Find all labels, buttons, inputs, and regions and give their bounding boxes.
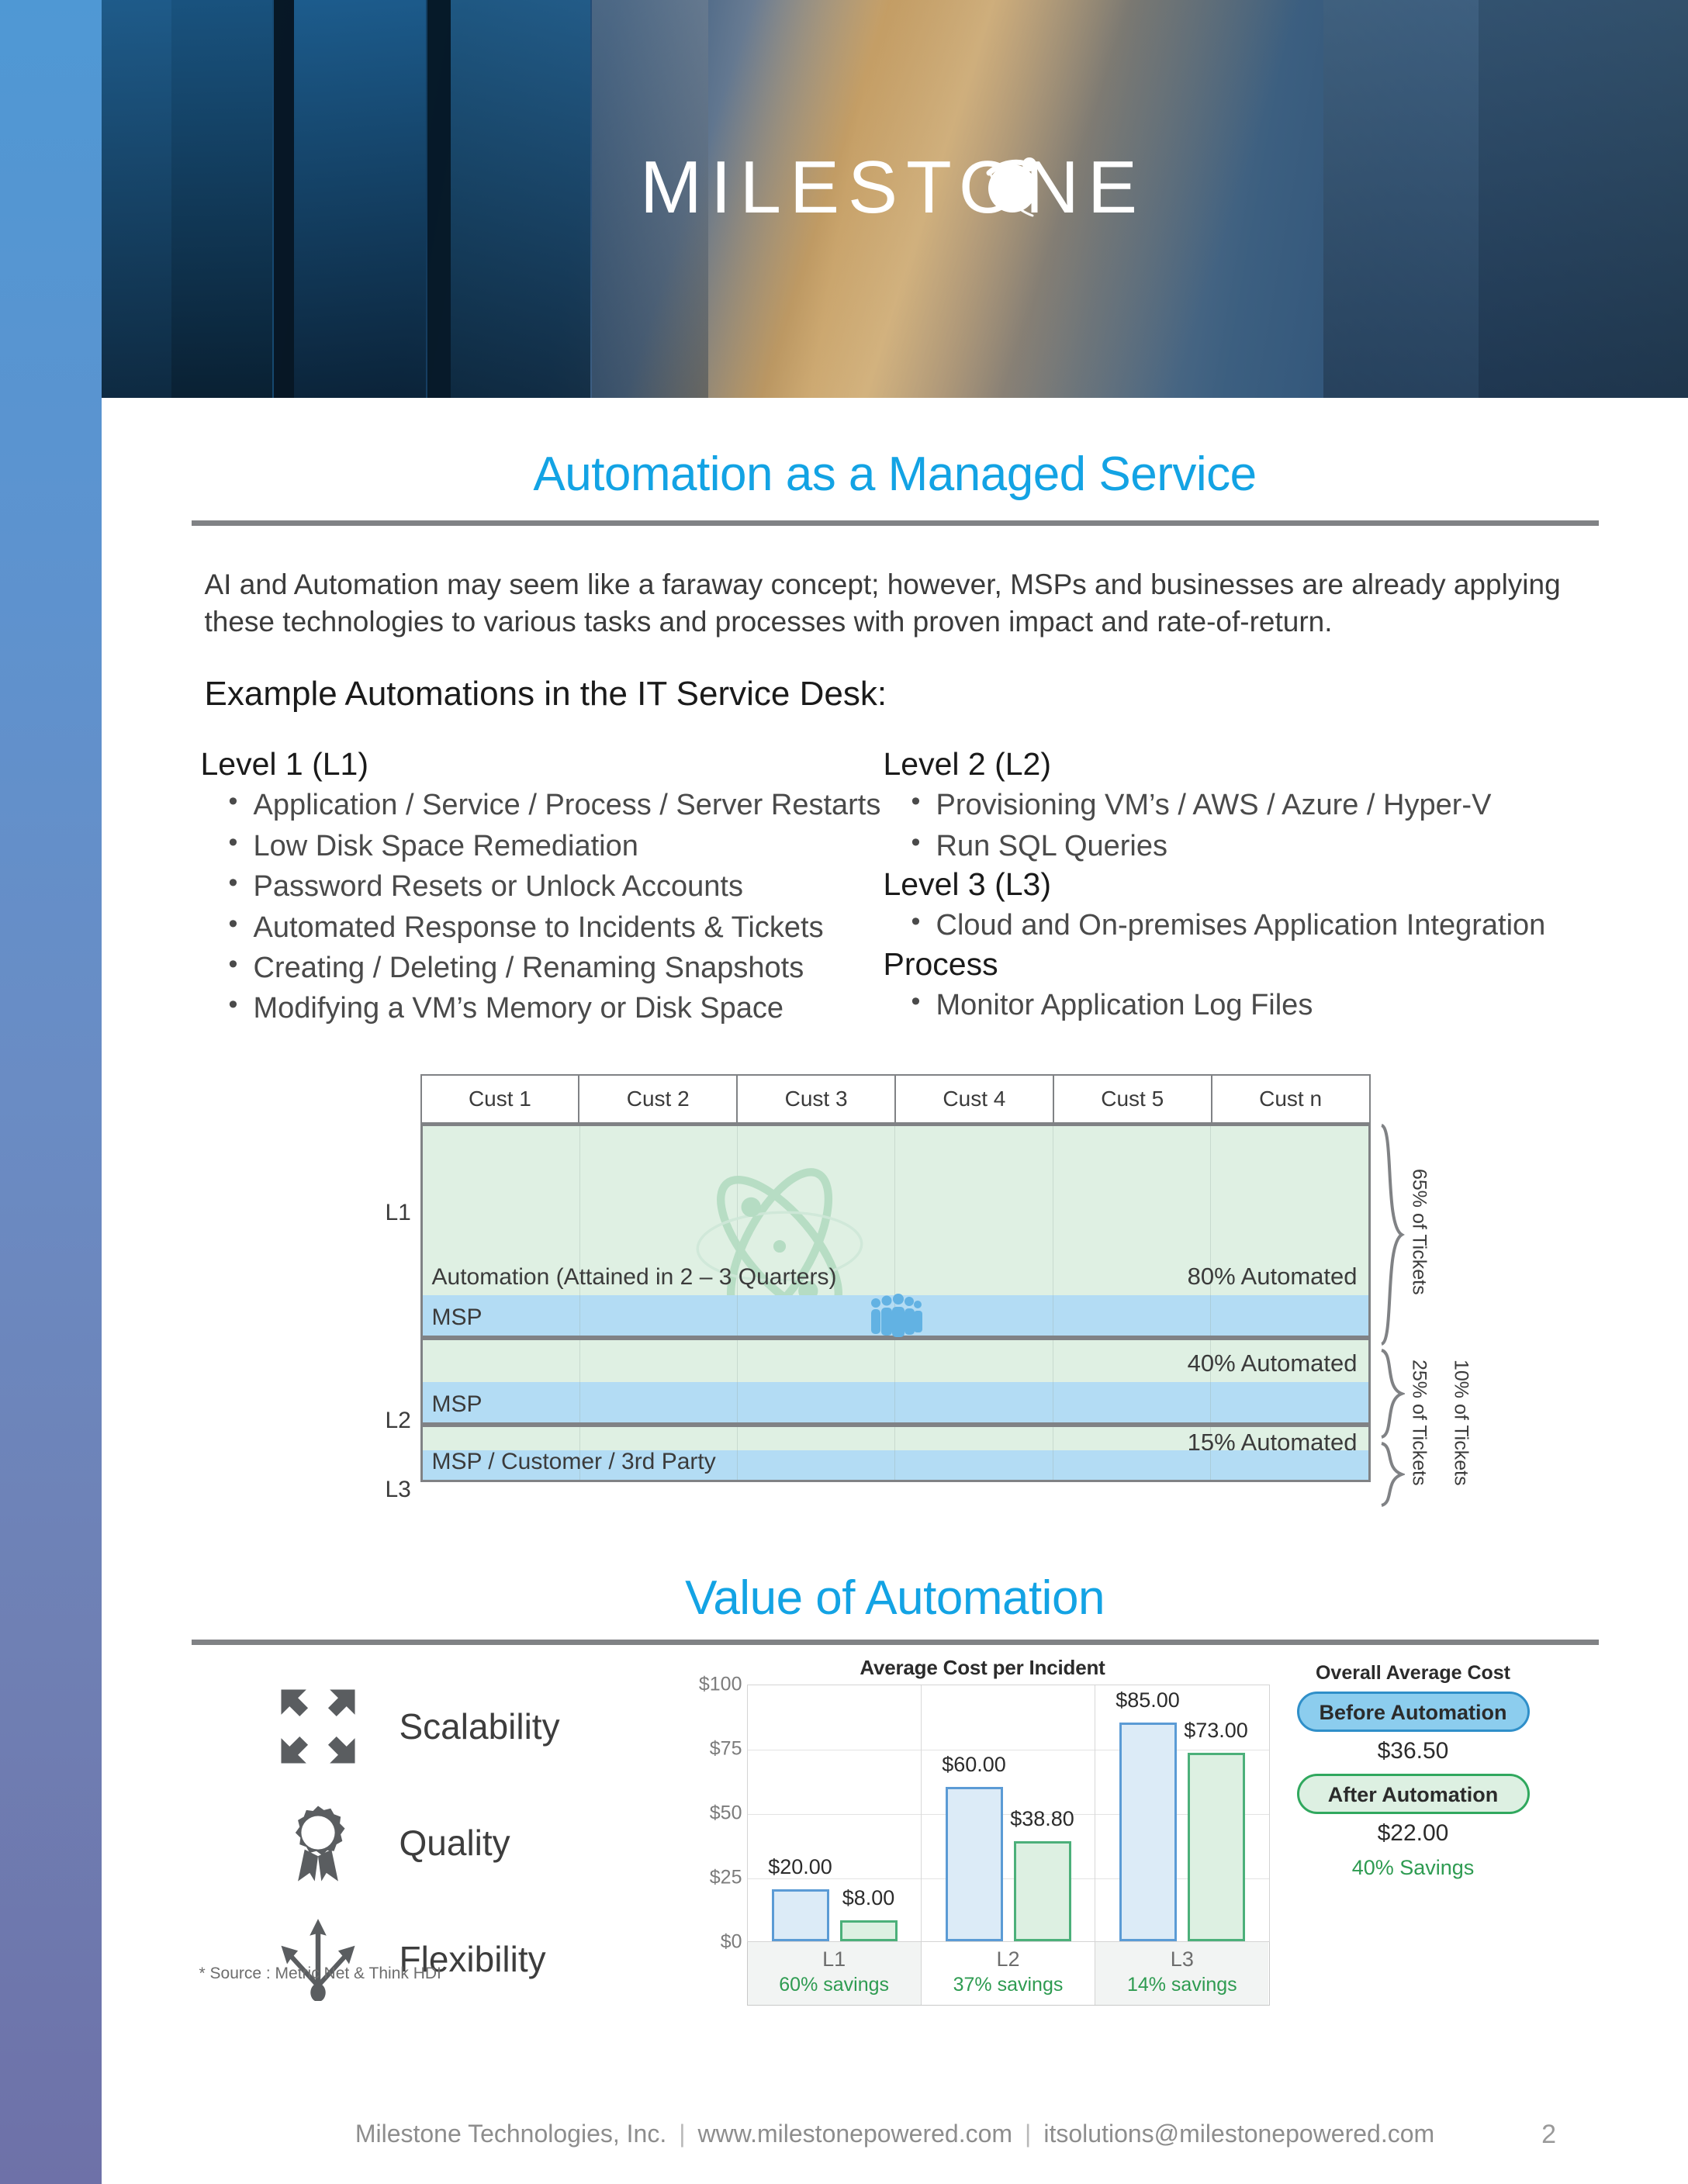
list-item: Automated Response to Incidents & Ticket… [226,907,884,948]
customer-header-row: Cust 1 Cust 2 Cust 3 Cust 4 Cust 5 Cust … [420,1074,1371,1124]
list-item: Modifying a VM’s Memory or Disk Space [226,988,884,1028]
customer-cell: Cust 1 [421,1075,579,1123]
page-footer: Milestone Technologies, Inc. | www.miles… [102,2120,1688,2148]
bar-group-l1: $20.00 $8.00 [748,1685,922,1941]
logo-text: MILESTONE [640,146,1146,229]
level-heading-l1: Level 1 (L1) [201,746,884,783]
list-item: Low Disk Space Remediation [226,826,884,866]
automation-lists: Level 1 (L1) Application / Service / Pro… [201,746,1589,1029]
list-item: Monitor Application Log Files [908,985,1589,1025]
award-ribbon-icon [269,1801,367,1885]
matrix-l2-msp-label: MSP [432,1391,483,1418]
milestone-logo: MILESTONE [102,0,1688,398]
chart-plot-area: $20.00 $8.00 $60.00 [747,1685,1270,1942]
y-tick: $0 [721,1930,742,1953]
bar-value-label: $20.00 [768,1855,832,1879]
bar-before-l3: $85.00 [1119,1723,1177,1941]
before-automation-value: $36.50 [1297,1738,1530,1764]
brace-label-l3: 10% of Tickets [1450,1360,1472,1486]
overall-savings: 40% Savings [1297,1856,1530,1880]
matrix-l1-automation-label: Automation (Attained in 2 – 3 Quarters) [432,1264,837,1291]
list-item: Application / Service / Process / Server… [226,785,884,825]
brace-label-l1: 65% of Tickets [1408,1169,1430,1295]
list-item: Creating / Deleting / Renaming Snapshots [226,948,884,988]
automation-matrix-diagram: L1 L2 L3 Cust 1 Cust 2 Cust 3 Cust 4 Cus… [201,1060,1589,1557]
footer-separator: | [679,2120,685,2148]
matrix-level-tag-l3: L3 [386,1477,411,1503]
matrix-row-l3-automation: 15% Automated [423,1427,1368,1450]
x-savings-label: 37% savings [922,1974,1095,1996]
bar-value-label: $60.00 [942,1753,1006,1777]
customer-cell: Cust 4 [895,1075,1053,1123]
overall-title: Overall Average Cost [1297,1662,1530,1685]
customer-cell: Cust 5 [1053,1075,1212,1123]
level-heading-l3: Level 3 (L3) [884,866,1589,903]
level-list-process: Monitor Application Log Files [908,985,1589,1025]
y-tick: $50 [710,1802,742,1824]
flexibility-arrows-icon [269,1917,367,2001]
value-section-title: Value of Automation [102,1571,1688,1626]
bar-after-l1: $8.00 [840,1920,898,1941]
y-tick: $75 [710,1737,742,1760]
matrix-row-l3-msp: MSP / Customer / 3rd Party [423,1450,1368,1480]
y-tick: $100 [699,1673,742,1695]
y-tick: $25 [710,1866,742,1889]
page-number: 2 [1541,2120,1556,2150]
matrix-l3-msp-label: MSP / Customer / 3rd Party [432,1449,716,1475]
list-item: Provisioning VM’s / AWS / Azure / Hyper-… [908,785,1589,825]
chart-title: Average Cost per Incident [696,1656,1270,1680]
matrix-l1-msp-label: MSP [432,1305,483,1331]
overall-average-cost-panel: Overall Average Cost Before Automation $… [1297,1662,1530,1880]
brace-l2 [1378,1349,1405,1439]
matrix-band-l3: 15% Automated MSP / Customer / 3rd Party [420,1425,1371,1482]
bar-value-label: $85.00 [1116,1688,1180,1712]
customer-cell: Cust n [1212,1075,1370,1123]
benefit-label: Quality [400,1822,510,1864]
list-item: Cloud and On-premises Application Integr… [908,905,1589,945]
brace-l3 [1378,1442,1405,1507]
bar-value-label: $38.80 [1010,1807,1074,1831]
section-subheading: Example Automations in the IT Service De… [205,675,1586,714]
brace-l1 [1378,1124,1405,1346]
matrix-row-l2-automation: 40% Automated [423,1340,1368,1382]
customer-cell: Cust 3 [737,1075,895,1123]
x-axis-cell-l2: L2 37% savings [922,1942,1095,2005]
bar-after-l2: $38.80 [1014,1841,1071,1941]
level-list-l3: Cloud and On-premises Application Integr… [908,905,1589,945]
bar-group-l3: $85.00 $73.00 [1095,1685,1269,1941]
header-hero-image: MILESTONE [102,0,1688,398]
x-axis-cell-l1: L1 60% savings [748,1942,922,2005]
level-heading-process: Process [884,946,1589,983]
matrix-level-tag-l1: L1 [386,1200,411,1226]
x-savings-label: 60% savings [748,1974,921,1996]
intro-paragraph: AI and Automation may seem like a farawa… [205,566,1586,641]
matrix-band-l1: Automation (Attained in 2 – 3 Quarters) … [420,1124,1371,1338]
list-item: Password Resets or Unlock Accounts [226,866,884,907]
matrix-level-tag-l2: L2 [386,1408,411,1434]
grid-lines [423,1382,1368,1422]
source-note: * Source : Metric Net & Think HDI [199,1965,441,1983]
footer-separator: | [1025,2120,1031,2148]
brace-label-l2: 25% of Tickets [1408,1360,1430,1486]
matrix-band-l2: 40% Automated MSP [420,1338,1371,1425]
bar-value-label: $8.00 [842,1886,895,1910]
matrix-row-l2-msp: MSP [423,1382,1368,1422]
level-list-l1: Application / Service / Process / Server… [226,785,884,1029]
page-title: Automation as a Managed Service [102,447,1688,502]
value-section-divider [192,1640,1599,1645]
logo-wordmark: MILESTONE [640,145,1146,230]
matrix-l1-automated-pct: 80% Automated [1188,1263,1358,1291]
level-heading-l2: Level 2 (L2) [884,746,1589,783]
average-cost-chart: Average Cost per Incident $0 $25 $50 $75… [696,1656,1270,2020]
benefit-quality: Quality [269,1785,704,1901]
chart-x-axis: L1 60% savings L2 37% savings L3 14% sav… [747,1942,1270,2006]
expand-arrows-icon [269,1685,367,1768]
matrix-row-l1-automation: Automation (Attained in 2 – 3 Quarters) … [423,1126,1368,1295]
x-axis-cell-l3: L3 14% savings [1095,1942,1268,2005]
chart-y-axis: $0 $25 $50 $75 $100 [696,1685,747,1942]
list-item: Run SQL Queries [908,826,1589,866]
benefit-scalability: Scalability [269,1668,704,1785]
matrix-row-l1-msp: MSP [423,1295,1368,1336]
after-automation-value: $22.00 [1297,1820,1530,1847]
people-icon [868,1294,922,1337]
benefit-flexibility: Flexibility [269,1901,704,2017]
footer-website[interactable]: www.milestonepowered.com [698,2120,1013,2148]
customer-cell: Cust 2 [579,1075,737,1123]
bar-group-l2: $60.00 $38.80 [922,1685,1095,1941]
matrix-l2-automated-pct: 40% Automated [1188,1349,1358,1377]
planet-ring-icon [983,151,1042,219]
x-tick-label: L1 [748,1947,921,1971]
x-tick-label: L2 [922,1947,1095,1971]
left-accent-bar [0,0,102,2184]
after-automation-pill: After Automation [1297,1774,1530,1814]
footer-email[interactable]: itsolutions@milestonepowered.com [1043,2120,1434,2148]
benefit-label: Scalability [400,1705,560,1747]
bar-before-l2: $60.00 [946,1787,1003,1941]
x-tick-label: L3 [1095,1947,1268,1971]
list-column-right: Level 2 (L2) Provisioning VM’s / AWS / A… [884,746,1589,1029]
list-column-left: Level 1 (L1) Application / Service / Pro… [201,746,884,1029]
x-savings-label: 14% savings [1095,1974,1268,1996]
bar-before-l1: $20.00 [772,1889,829,1940]
before-automation-pill: Before Automation [1297,1692,1530,1732]
footer-company: Milestone Technologies, Inc. [355,2120,666,2148]
level-list-l2: Provisioning VM’s / AWS / Azure / Hyper-… [908,785,1589,866]
title-divider [192,520,1599,526]
bar-value-label: $73.00 [1184,1719,1248,1743]
bar-after-l3: $73.00 [1188,1753,1245,1940]
